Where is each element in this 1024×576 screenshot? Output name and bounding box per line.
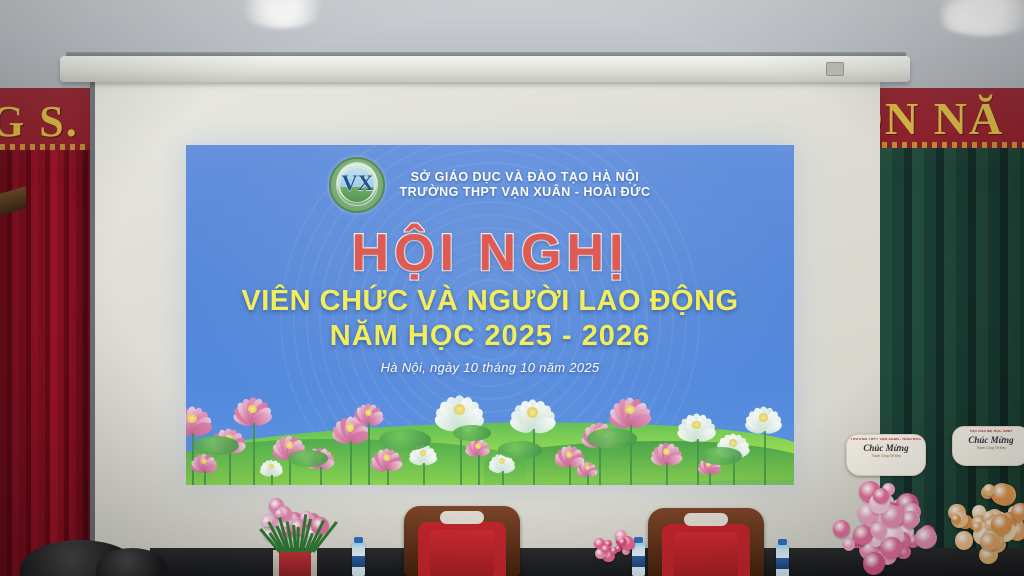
lotus-stem (320, 467, 322, 485)
lotus-flower (675, 405, 719, 439)
lotus-stem (599, 445, 601, 485)
basket-blossom (972, 522, 982, 532)
basket-blossom (991, 514, 1012, 535)
lotus-flower (575, 456, 599, 475)
lotus-stem (764, 431, 766, 485)
basket-blossom (843, 538, 855, 550)
conference-hall-photo: G S. UÔN NĂ VX SỞ GIÁO DỤC VÀ ĐÀO TẠO HÀ… (0, 0, 1024, 576)
red-curtain-shading (0, 150, 96, 576)
basket-card-2-sender: HỘI CHA MẸ HỌC SINH (953, 430, 1024, 434)
congratulation-basket-2: HỘI CHA MẸ HỌC SINH Chúc Mừng Thành Công… (944, 424, 1024, 576)
lily-pad (587, 428, 637, 449)
basket-card-1-message: Chúc Mừng (847, 444, 925, 453)
lotus-flower (351, 396, 385, 423)
basket-card-1: TRƯỜNG THPT VẠN XUÂN - HOÀI ĐỨC Chúc Mừn… (846, 434, 926, 476)
basket-blossom (980, 533, 998, 551)
chair-right (648, 508, 764, 576)
lotus-flower (231, 389, 275, 423)
basket-card-2-message: Chúc Mừng (953, 436, 1024, 445)
basket-card-2-subtext: Thành Công Tốt Đẹp (953, 446, 1024, 450)
basket-card-1-subtext: Thành Công Tốt Đẹp (847, 454, 925, 458)
slide-header-text: SỞ GIÁO DỤC VÀ ĐÀO TẠO HÀ NỘI TRƯỜNG THP… (399, 170, 650, 201)
lotus-flower (507, 388, 559, 429)
vase-blossom (601, 545, 609, 553)
school-logo-monogram: VX (331, 170, 383, 196)
vase-blossom (618, 538, 626, 546)
screen-roller-endcap (826, 62, 844, 76)
lotus-stem (229, 451, 231, 485)
slide-title-main: HỘI NGHỊ (186, 223, 794, 283)
screen-roller-housing (60, 56, 910, 82)
lotus-stem (350, 441, 352, 485)
lily-pad (379, 429, 431, 451)
lotus-stem (502, 471, 504, 485)
table-flower-vase-left (248, 500, 342, 576)
lily-pad (453, 425, 491, 441)
lotus-flower (432, 383, 488, 427)
water-bottle-3 (776, 544, 789, 576)
lotus-stem (368, 423, 370, 485)
basket-card-1-sender: TRƯỜNG THPT VẠN XUÂN - HOÀI ĐỨC (847, 438, 925, 442)
basket-blossom (870, 522, 887, 539)
lotus-stem (709, 473, 711, 485)
lotus-stem (666, 463, 668, 485)
lotus-stem (423, 463, 425, 485)
lotus-stem (387, 469, 389, 485)
lily-pad (498, 441, 542, 459)
department-name: SỞ GIÁO DỤC VÀ ĐÀO TẠO HÀ NỘI (399, 170, 650, 185)
lotus-stem (204, 471, 206, 485)
lotus-flower (258, 455, 284, 475)
lotus-flower (606, 388, 654, 425)
basket-blossom (1011, 503, 1024, 522)
lotus-stem (478, 455, 480, 485)
lily-pad (700, 447, 742, 465)
lotus-stem (253, 423, 255, 485)
school-logo-icon: VX (329, 157, 385, 213)
presentation-slide: VX SỞ GIÁO DỤC VÀ ĐÀO TẠO HÀ NỘI TRƯỜNG … (186, 145, 794, 485)
school-name: TRƯỜNG THPT VẠN XUÂN - HOÀI ĐỨC (399, 185, 650, 200)
chair-left (404, 506, 520, 576)
table-flower-vase-center (578, 528, 648, 576)
basket-blossom (873, 488, 889, 504)
slide-subtitle-2: NĂM HỌC 2025 - 2026 (186, 320, 794, 353)
basket-blossom (915, 527, 937, 549)
lotus-stem (569, 465, 571, 485)
congratulation-basket-1: TRƯỜNG THPT VẠN XUÂN - HOÀI ĐỨC Chúc Mừn… (824, 430, 944, 576)
basket-card-2: HỘI CHA MẸ HỌC SINH Chúc Mừng Thành Công… (952, 426, 1024, 466)
projection-screen-left-edge (90, 80, 95, 576)
lily-pad (193, 436, 239, 455)
lotus-stem (587, 475, 589, 485)
lotus-pond-decoration (186, 361, 794, 485)
lotus-stem (271, 475, 273, 485)
slide-subtitle-1: VIÊN CHỨC VÀ NGƯỜI LAO ĐỘNG (186, 285, 794, 318)
lily-pad (288, 450, 328, 467)
ceiling-light-right-core (936, 2, 994, 32)
wall-banner-left-text: G S. (0, 96, 79, 147)
basket-blossom (833, 520, 851, 538)
lotus-flower (743, 398, 785, 431)
basket-blossom (880, 537, 903, 560)
lotus-flower (648, 435, 684, 463)
slide-header: VX SỞ GIÁO DỤC VÀ ĐÀO TẠO HÀ NỘI TRƯỜNG … (186, 157, 794, 213)
water-bottle-1 (352, 542, 365, 576)
basket-blossom (863, 552, 886, 575)
basket-blossom (955, 531, 974, 550)
